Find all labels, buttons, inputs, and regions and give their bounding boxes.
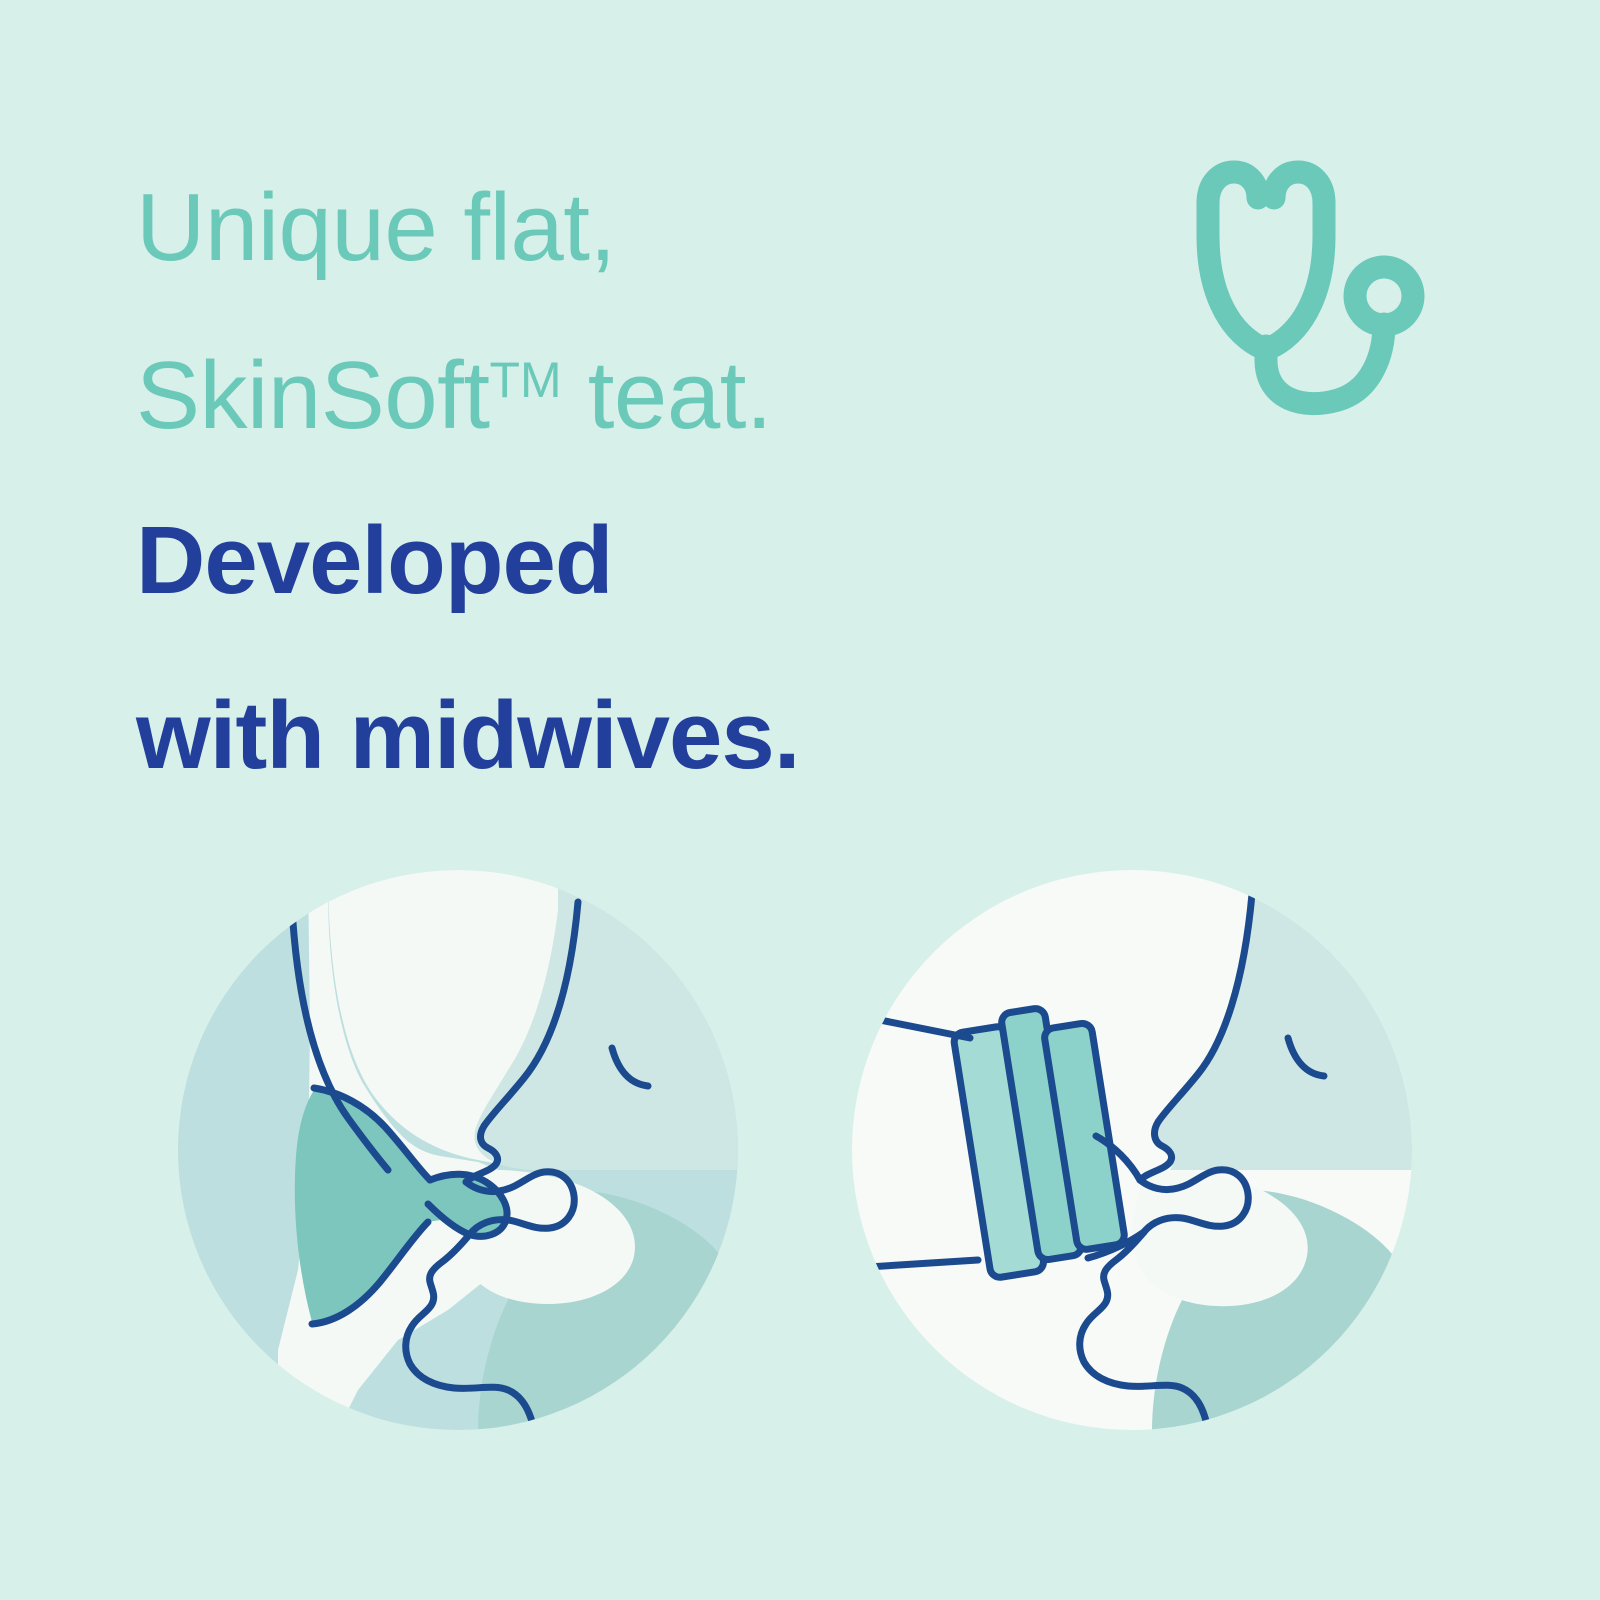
subheadline-line-2: with midwives. xyxy=(136,648,1116,823)
illustration-bottle-teat-latch xyxy=(852,870,1412,1430)
trademark-symbol: TM xyxy=(490,352,562,408)
marketing-card: Unique flat, SkinSoftTM teat. Developed … xyxy=(0,0,1600,1600)
illustration-row xyxy=(0,870,1600,1450)
headline-block: Unique flat, SkinSoftTM teat. xyxy=(136,152,1116,472)
illustration-breastfeeding-latch xyxy=(178,870,738,1430)
stethoscope-icon xyxy=(1186,148,1446,418)
headline-line-2-suffix: teat. xyxy=(562,342,772,449)
headline-brand-word: SkinSoft xyxy=(136,342,490,449)
headline-line-2: SkinSoftTM teat. xyxy=(136,304,1116,472)
headline-line-1: Unique flat, xyxy=(136,152,1116,304)
subheadline-block: Developed with midwives. xyxy=(136,473,1116,823)
subheadline-line-1: Developed xyxy=(136,473,1116,648)
